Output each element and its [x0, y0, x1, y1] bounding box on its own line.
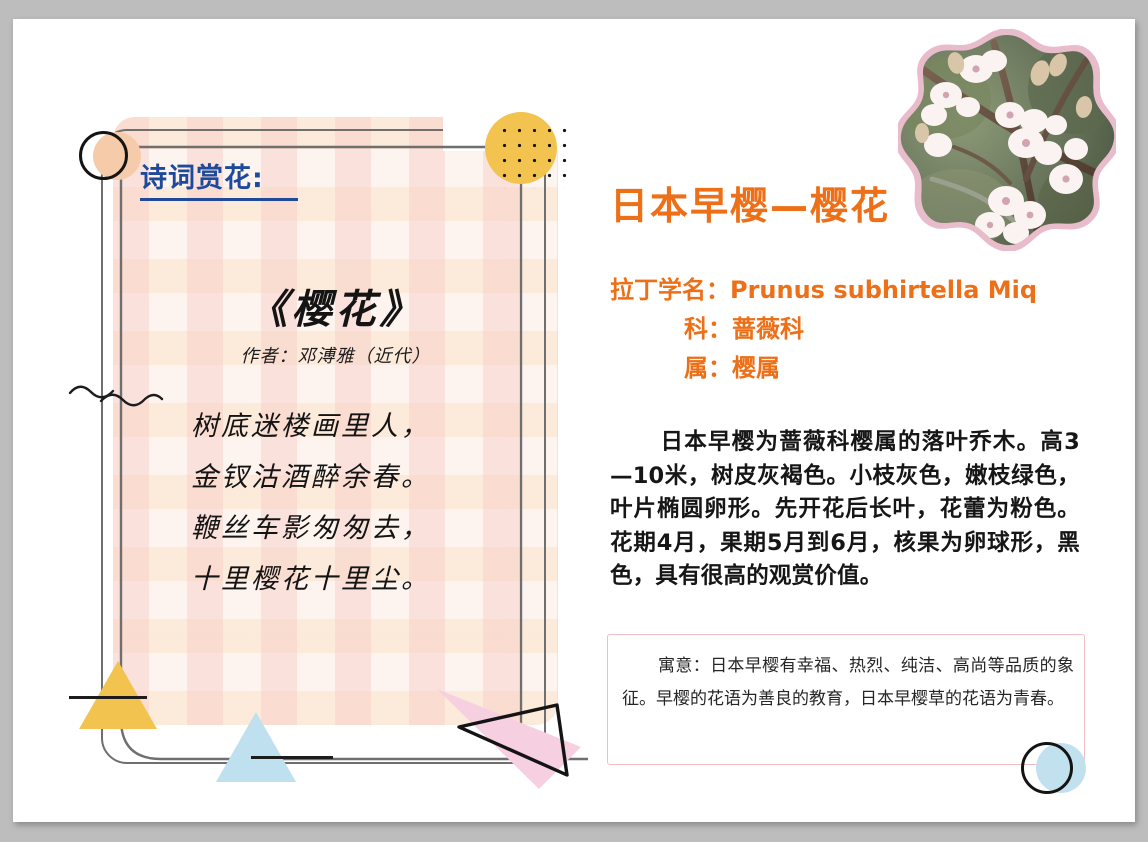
poem-title: 《樱花》: [113, 277, 558, 335]
description-text: 日本早樱为蔷薇科樱属的落叶乔木。高3—10米，树皮灰褐色。小枝灰色，嫩枝绿色，叶…: [610, 429, 1080, 589]
meaning-paragraph: 寓意：日本早樱有幸福、热烈、纯洁、高尚等品质的象征。早樱的花语为善良的教育，日本…: [622, 650, 1074, 716]
yellow-triangle-icon: [79, 661, 157, 729]
dot-grid-icon: [497, 123, 575, 189]
blue-triangle-strike-line: [251, 756, 333, 759]
poem-line: 鞭丝车影匆匆去，: [191, 503, 571, 554]
yellow-triangle-strike-line: [69, 696, 147, 699]
taxonomy-row-genus: 属：樱属: [610, 349, 1080, 388]
taxonomy-value: 蔷薇科: [732, 315, 804, 343]
slide-canvas: 诗词赏花: 《樱花》 作者：邓溥雅（近代） 树底迷楼画里人， 金钗沽酒醉余春。 …: [13, 19, 1135, 822]
right-panel: 日本早樱—樱花 拉丁学名：Prunus subhirtella Miq 科：蔷薇…: [593, 19, 1135, 822]
poem-section-heading: 诗词赏花:: [140, 165, 298, 201]
poem-line: 金钗沽酒醉余春。: [191, 452, 571, 503]
slide-stage: 诗词赏花: 《樱花》 作者：邓溥雅（近代） 树底迷楼画里人， 金钗沽酒醉余春。 …: [0, 0, 1148, 842]
taxonomy-label: 科：: [684, 315, 732, 343]
description-paragraph: 日本早樱为蔷薇科樱属的落叶乔木。高3—10米，树皮灰褐色。小枝灰色，嫩枝绿色，叶…: [610, 426, 1080, 594]
blue-triangle-icon: [216, 712, 296, 782]
poem-line: 树底迷楼画里人，: [191, 401, 571, 452]
cherry-blossom-photo: [898, 29, 1116, 251]
outline-circle-icon: [1021, 742, 1073, 794]
taxonomy-row-family: 科：蔷薇科: [610, 310, 1080, 349]
outline-circle-icon: [79, 131, 128, 180]
taxonomy-label: 拉丁学名：: [610, 276, 730, 304]
wavy-line-icon: [68, 377, 164, 421]
taxonomy-label: 属：: [684, 354, 732, 382]
meaning-text-content: 寓意：日本早樱有幸福、热烈、纯洁、高尚等品质的象征。早樱的花语为善良的教育，日本…: [622, 656, 1074, 709]
poem-line: 十里樱花十里尘。: [191, 554, 571, 605]
taxonomy-list: 拉丁学名：Prunus subhirtella Miq 科：蔷薇科 属：樱属: [610, 271, 1080, 388]
poem-author: 作者：邓溥雅（近代）: [113, 342, 558, 368]
taxonomy-row-latin: 拉丁学名：Prunus subhirtella Miq: [610, 271, 1080, 310]
taxonomy-value: Prunus subhirtella Miq: [730, 276, 1037, 304]
left-panel: 诗词赏花: 《樱花》 作者：邓溥雅（近代） 树底迷楼画里人， 金钗沽酒醉余春。 …: [13, 19, 593, 822]
page-title: 日本早樱—樱花: [610, 175, 890, 230]
pink-arrow-triangle-icon: [431, 677, 596, 789]
taxonomy-value: 樱属: [732, 354, 780, 382]
poem-body: 树底迷楼画里人， 金钗沽酒醉余春。 鞭丝车影匆匆去， 十里樱花十里尘。: [191, 401, 571, 605]
